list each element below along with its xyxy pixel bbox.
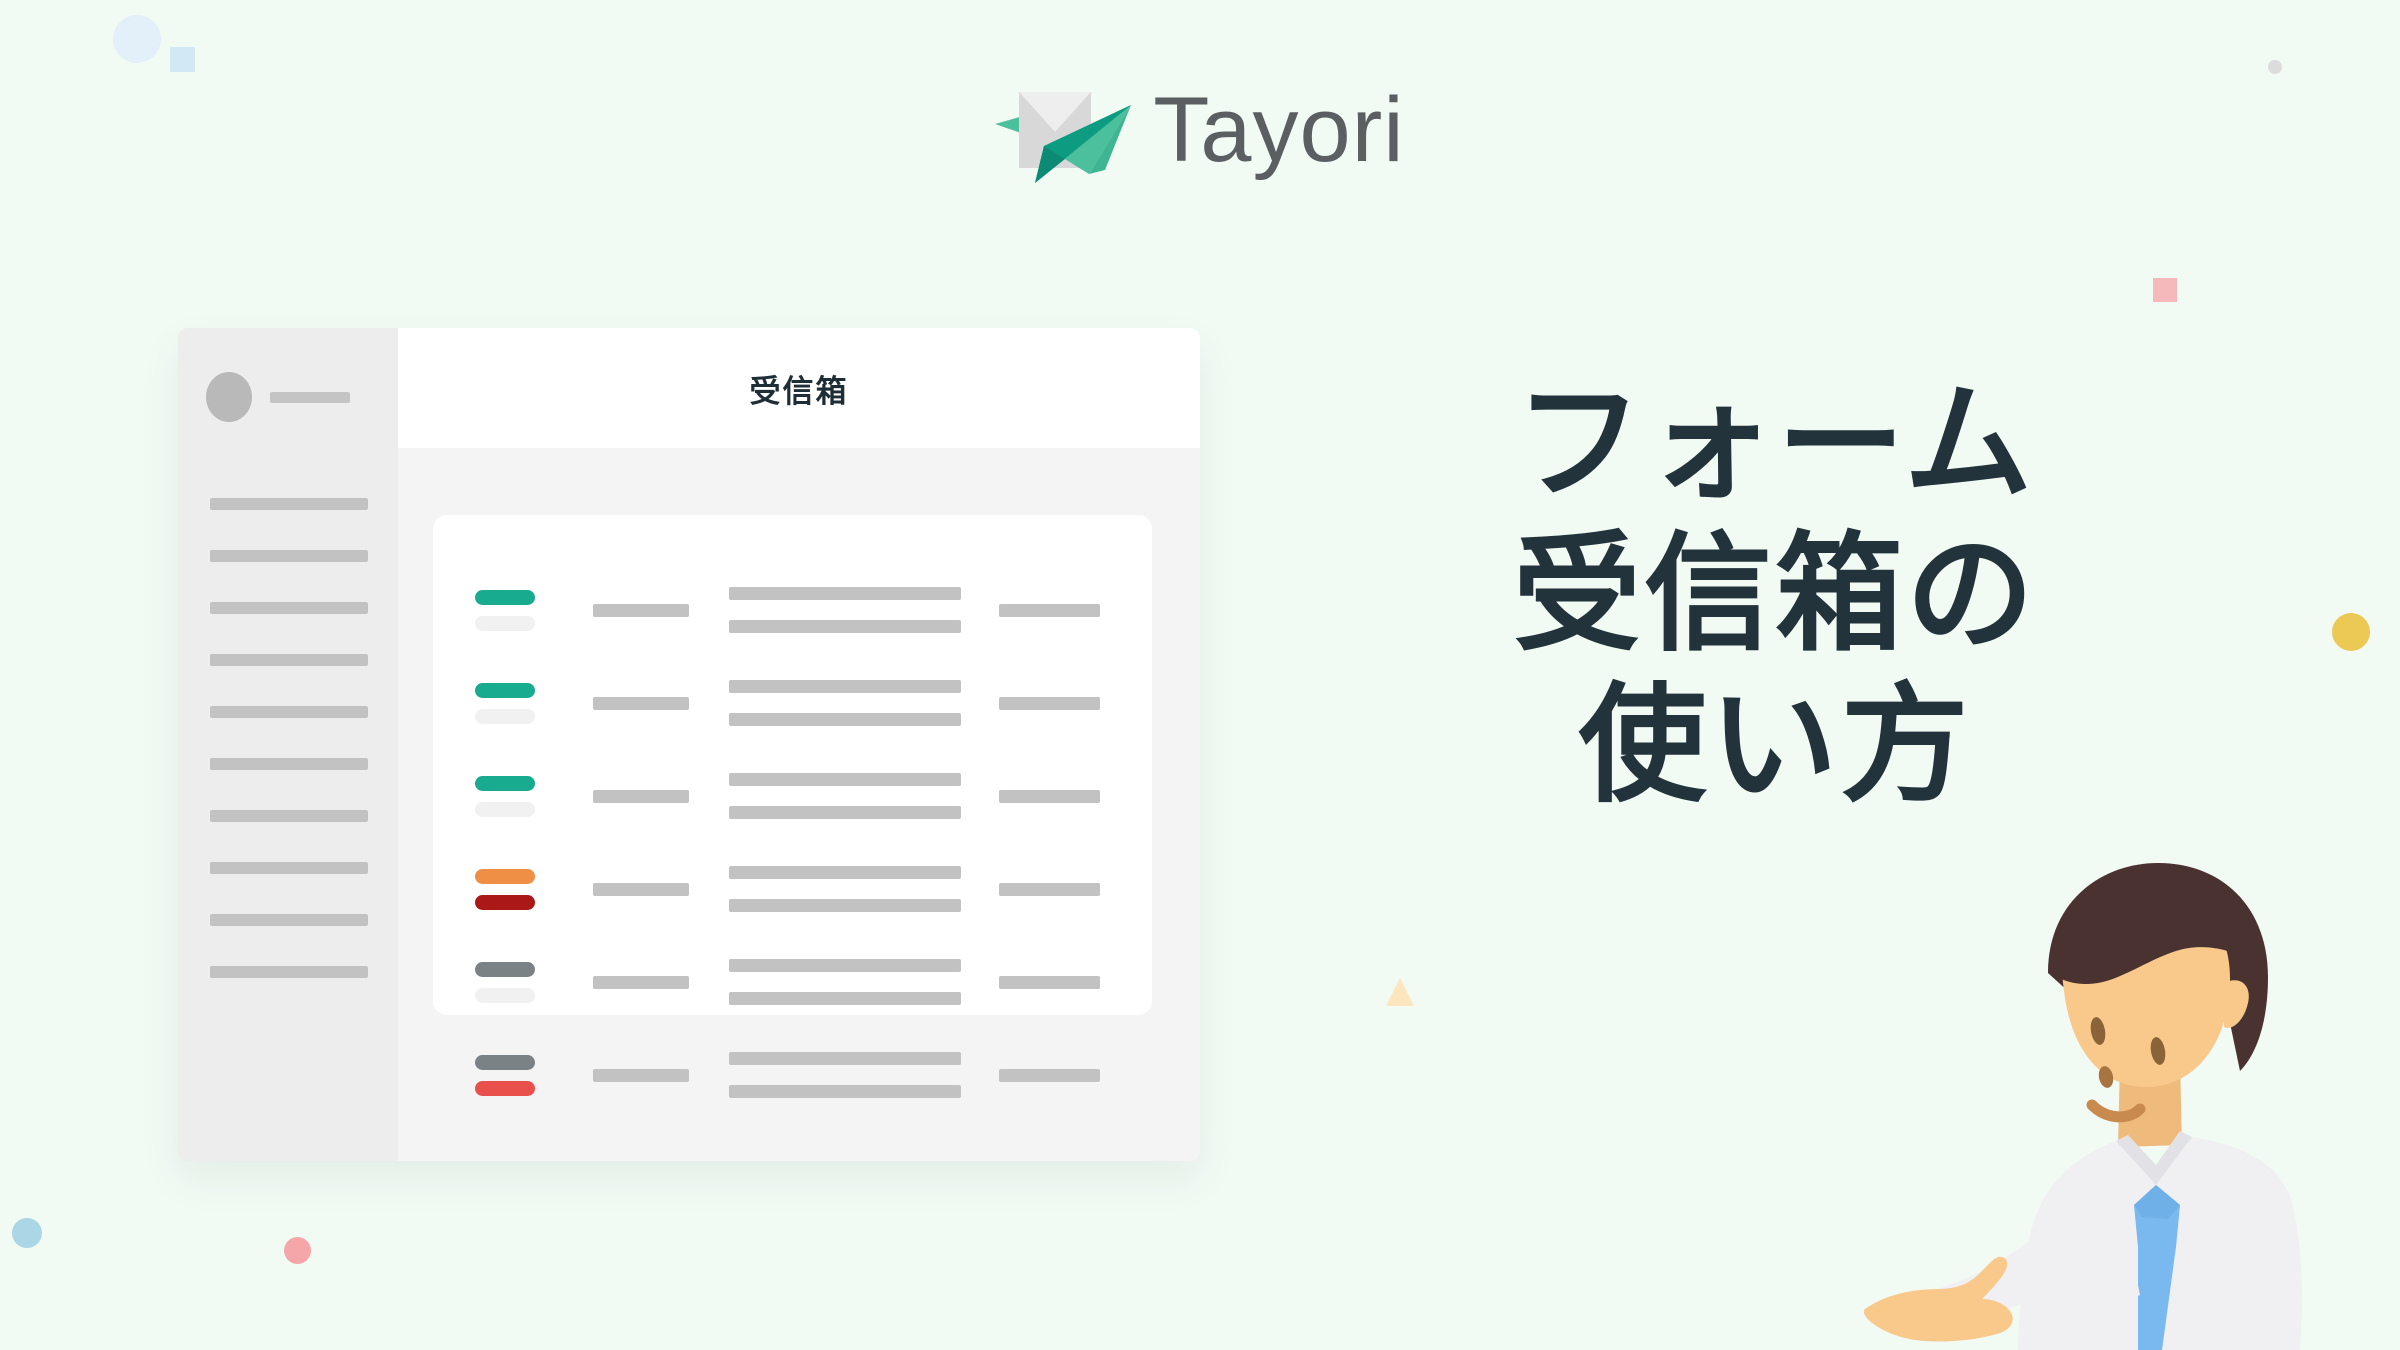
row-content-placeholder-bar <box>729 959 961 972</box>
row-status-tags <box>475 590 593 631</box>
sidebar-menu-item-8[interactable] <box>210 862 368 874</box>
row-content-placeholder-bar <box>729 713 961 726</box>
row-content-placeholder-bar <box>729 1085 961 1098</box>
row-meta-placeholder-bar <box>593 883 689 896</box>
row-content-placeholder-bar <box>729 680 961 693</box>
sidebar-menu-item-1[interactable] <box>210 498 368 510</box>
row-content-cell <box>729 1052 970 1098</box>
status-tag-primary[interactable] <box>475 590 535 605</box>
row-date-placeholder-bar <box>999 697 1100 710</box>
status-tag-secondary[interactable] <box>475 709 535 724</box>
tayori-envelope-plane-logo-icon <box>995 78 1135 188</box>
status-tag-primary[interactable] <box>475 869 535 884</box>
row-status-tags <box>475 683 593 724</box>
row-date-placeholder-bar <box>999 883 1100 896</box>
row-content-placeholder-bar <box>729 773 961 786</box>
brand-logo: Tayori <box>0 78 2400 188</box>
sidebar-menu-item-10[interactable] <box>210 966 368 978</box>
row-content-placeholder-bar <box>729 620 961 633</box>
inbox-list-row[interactable] <box>475 959 1100 1005</box>
row-content-placeholder-bar <box>729 587 961 600</box>
deco-circle-blue-top-left <box>113 15 161 63</box>
deco-circle-blue-bottom-left <box>12 1218 42 1248</box>
status-tag-primary[interactable] <box>475 1055 535 1070</box>
mockup-content-area <box>398 448 1200 1161</box>
row-date-cell <box>970 976 1100 989</box>
sidebar-menu-item-5[interactable] <box>210 706 368 718</box>
inbox-list-row[interactable] <box>475 1052 1100 1098</box>
sidebar-account-row[interactable] <box>178 368 398 426</box>
row-meta-cell <box>593 697 729 710</box>
status-tag-secondary[interactable] <box>475 802 535 817</box>
inbox-list-row[interactable] <box>475 680 1100 726</box>
headline-line-1: フォーム <box>1430 368 2120 519</box>
page-title: 受信箱 <box>750 366 849 411</box>
headline-line-3: 使い方 <box>1430 670 2120 821</box>
row-date-placeholder-bar <box>999 976 1100 989</box>
row-meta-placeholder-bar <box>593 976 689 989</box>
row-content-cell <box>729 959 970 1005</box>
logo-wordmark: Tayori <box>1153 84 1404 182</box>
inbox-list-card <box>433 515 1152 1015</box>
row-content-placeholder-bar <box>729 866 961 879</box>
sidebar-menu-item-2[interactable] <box>210 550 368 562</box>
row-date-cell <box>970 883 1100 896</box>
headline-line-2: 受信箱の <box>1430 519 2120 670</box>
row-content-cell <box>729 866 970 912</box>
row-date-placeholder-bar <box>999 604 1100 617</box>
inbox-list-row[interactable] <box>475 866 1100 912</box>
deco-square-pink-right <box>2153 278 2177 302</box>
mockup-main-panel: 受信箱 <box>398 328 1200 1161</box>
sidebar-menu-list <box>178 498 398 978</box>
status-tag-secondary[interactable] <box>475 988 535 1003</box>
row-content-placeholder-bar <box>729 992 961 1005</box>
inbox-list-row[interactable] <box>475 773 1100 819</box>
row-meta-cell <box>593 883 729 896</box>
deco-circle-gray-top-right <box>2268 60 2282 74</box>
status-tag-secondary[interactable] <box>475 895 535 910</box>
row-date-cell <box>970 790 1100 803</box>
row-content-cell <box>729 773 970 819</box>
deco-circle-yellow-right <box>2332 613 2370 651</box>
status-tag-primary[interactable] <box>475 776 535 791</box>
row-date-cell <box>970 1069 1100 1082</box>
row-content-placeholder-bar <box>729 806 961 819</box>
sidebar-menu-item-7[interactable] <box>210 810 368 822</box>
sidebar-username-placeholder <box>270 392 350 403</box>
row-meta-placeholder-bar <box>593 604 689 617</box>
row-content-placeholder-bar <box>729 1052 961 1065</box>
user-avatar[interactable] <box>206 372 252 422</box>
row-status-tags <box>475 776 593 817</box>
mockup-sidebar <box>178 328 398 1161</box>
row-meta-placeholder-bar <box>593 790 689 803</box>
row-status-tags <box>475 1055 593 1096</box>
sidebar-menu-item-3[interactable] <box>210 602 368 614</box>
sidebar-menu-item-9[interactable] <box>210 914 368 926</box>
row-meta-cell <box>593 790 729 803</box>
sidebar-menu-item-6[interactable] <box>210 758 368 770</box>
row-date-cell <box>970 697 1100 710</box>
mockup-header-bar: 受信箱 <box>398 328 1200 448</box>
page-headline: フォーム受信箱の使い方 <box>1430 368 2120 821</box>
inbox-list-row[interactable] <box>475 587 1100 633</box>
row-meta-cell <box>593 976 729 989</box>
deco-square-blue-top-left <box>170 47 195 72</box>
row-meta-placeholder-bar <box>593 697 689 710</box>
row-content-cell <box>729 680 970 726</box>
row-content-cell <box>729 587 970 633</box>
row-date-cell <box>970 604 1100 617</box>
inbox-app-mockup-window: 受信箱 <box>178 328 1200 1161</box>
status-tag-secondary[interactable] <box>475 616 535 631</box>
row-meta-cell <box>593 604 729 617</box>
status-tag-primary[interactable] <box>475 962 535 977</box>
row-meta-cell <box>593 1069 729 1082</box>
male-presenter-illustration <box>1840 855 2400 1350</box>
sidebar-menu-item-4[interactable] <box>210 654 368 666</box>
row-status-tags <box>475 962 593 1003</box>
status-tag-primary[interactable] <box>475 683 535 698</box>
row-meta-placeholder-bar <box>593 1069 689 1082</box>
row-date-placeholder-bar <box>999 790 1100 803</box>
row-date-placeholder-bar <box>999 1069 1100 1082</box>
status-tag-secondary[interactable] <box>475 1081 535 1096</box>
row-content-placeholder-bar <box>729 899 961 912</box>
deco-circle-pink-bottom-left <box>284 1237 311 1264</box>
row-status-tags <box>475 869 593 910</box>
deco-triangle-cream <box>1386 978 1414 1006</box>
